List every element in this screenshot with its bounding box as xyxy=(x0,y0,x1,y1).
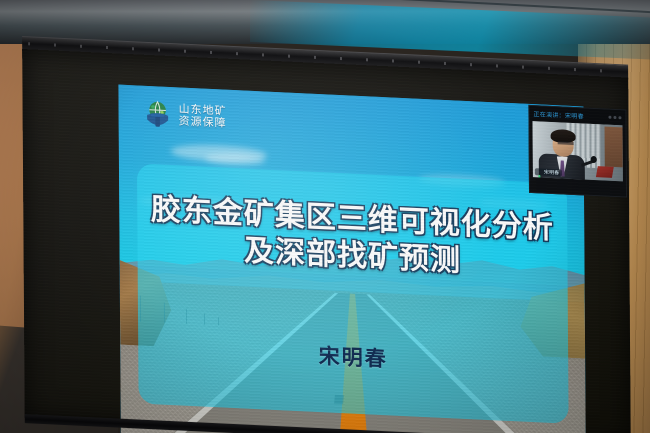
cloud xyxy=(139,194,259,214)
organization-logo-text: 山东地矿 资源保障 xyxy=(179,105,227,130)
speaker-hair xyxy=(551,129,576,143)
slide-sky xyxy=(118,85,584,287)
cloud xyxy=(479,198,549,211)
distant-mountains-secondary xyxy=(120,247,585,311)
video-panel-titlebar: 正在演讲：宋明春 xyxy=(529,106,625,125)
projector-glare xyxy=(118,85,586,433)
utility-poles xyxy=(138,277,268,327)
slide-author: 宋明春 xyxy=(138,331,568,381)
projection-screen-assembly: 山东地矿 资源保障 胶东金矿集区三维可视化分析 及深部找矿预测 宋明春 正在演讲… xyxy=(22,22,631,433)
slide-title-line-2: 及深部找矿预测 xyxy=(137,228,567,285)
roadside-scrub-left xyxy=(120,253,185,348)
cloud xyxy=(205,153,265,167)
video-panel-title-text: 正在演讲：宋明春 xyxy=(533,109,583,120)
desert-ground xyxy=(120,281,586,433)
more-options-icon[interactable] xyxy=(608,115,621,119)
cyan-title-panel xyxy=(137,163,569,423)
roadside-scrub-right xyxy=(515,275,586,358)
speaker-tie xyxy=(560,160,565,176)
slide-title-line-1: 胶东金矿集区三维可视化分析 xyxy=(137,191,567,248)
red-object-on-desk xyxy=(596,166,614,178)
microphone-head xyxy=(591,156,597,163)
microphone-stand xyxy=(581,159,595,166)
road-edge-line-right xyxy=(120,283,586,433)
speaker-nametag-text: 宋明春 xyxy=(544,169,560,177)
globe-shield-logo-icon xyxy=(142,100,172,131)
road-edge-line-left xyxy=(120,283,586,433)
logo-line-2: 资源保障 xyxy=(179,116,227,130)
cloud xyxy=(419,173,505,189)
highway-road xyxy=(120,283,586,433)
speaker-glasses xyxy=(558,141,574,145)
speaker-nametag: 宋明春 xyxy=(535,168,562,176)
slide-title: 胶东金矿集区三维可视化分析 及深部找矿预测 xyxy=(137,191,568,284)
speaker-shirt xyxy=(557,156,568,177)
video-background-door xyxy=(605,126,623,167)
speaker-video-panel[interactable]: 正在演讲：宋明春 xyxy=(528,105,627,198)
speaker-body xyxy=(539,153,585,181)
video-background-blinds xyxy=(567,123,601,169)
road-center-line xyxy=(120,283,586,433)
logo-line-1: 山东地矿 xyxy=(179,105,227,119)
screenshot-stage: 山东地矿 资源保障 胶东金矿集区三维可视化分析 及深部找矿预测 宋明春 正在演讲… xyxy=(0,0,650,433)
video-background-wall xyxy=(533,121,623,181)
cloud xyxy=(171,143,267,164)
presentation-slide: 山东地矿 资源保障 胶东金矿集区三维可视化分析 及深部找矿预测 宋明春 xyxy=(118,85,586,433)
microphone-icon xyxy=(537,168,542,175)
projection-screen-surface: 山东地矿 资源保障 胶东金矿集区三维可视化分析 及深部找矿预测 宋明春 正在演讲… xyxy=(22,49,631,433)
distant-mountains xyxy=(119,225,584,309)
speaker-video-feed[interactable]: 宋明春 xyxy=(533,121,623,181)
speaker-head xyxy=(553,132,574,157)
organization-logo: 山东地矿 资源保障 xyxy=(142,100,226,134)
road-mark xyxy=(334,395,344,404)
